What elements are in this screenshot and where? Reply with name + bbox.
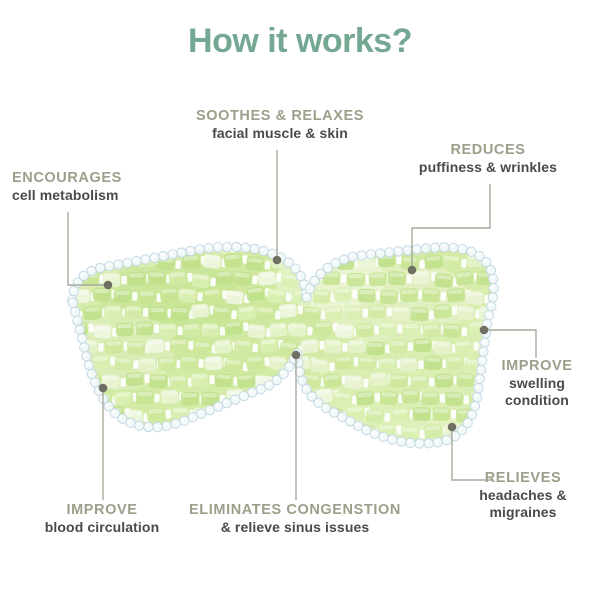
callout-encourages: ENCOURAGES cell metabolism	[12, 170, 182, 204]
callout-eliminates-head: ELIMINATES CONGENSTION	[160, 502, 430, 519]
callout-improve-swelling-head: IMPROVE	[478, 358, 596, 375]
callout-improve-blood-head: IMPROVE	[18, 502, 186, 519]
callout-relieves-head: RELIEVES	[448, 470, 598, 487]
callout-encourages-head: ENCOURAGES	[12, 170, 182, 187]
callout-soothes-sub: facial muscle & skin	[175, 125, 385, 142]
callout-soothes-head: SOOTHES & RELAXES	[175, 108, 385, 125]
connector-encourages	[68, 212, 104, 285]
connector-reduces	[412, 184, 490, 267]
callout-improve-swelling-sub: swelling	[478, 375, 596, 392]
dot-encourages	[104, 281, 113, 290]
callout-reduces: REDUCES puffiness & wrinkles	[393, 142, 583, 176]
callout-improve-swelling-sub2: condition	[478, 392, 596, 409]
callout-encourages-sub: cell metabolism	[12, 187, 182, 204]
page-title: How it works?	[0, 22, 600, 61]
callout-soothes: SOOTHES & RELAXES facial muscle & skin	[175, 108, 385, 142]
callout-relieves: RELIEVES headaches & migraines	[448, 470, 598, 520]
callout-improve-blood: IMPROVE blood circulation	[18, 502, 186, 536]
dot-soothes	[273, 256, 282, 265]
callout-eliminates: ELIMINATES CONGENSTION & relieve sinus i…	[160, 502, 430, 536]
dot-reduces	[408, 266, 417, 275]
callout-relieves-sub2: migraines	[448, 504, 598, 521]
dot-eliminates	[292, 351, 301, 360]
callout-reduces-sub: puffiness & wrinkles	[393, 159, 583, 176]
infographic-canvas: How it works? ENCOURAGES cell metabolism…	[0, 0, 600, 600]
callout-improve-blood-sub: blood circulation	[18, 519, 186, 536]
callout-relieves-sub: headaches &	[448, 487, 598, 504]
connector-dots	[99, 256, 489, 432]
dot-relieves	[448, 423, 457, 432]
dot-improve-swelling	[480, 326, 489, 335]
connector-improve-swelling	[488, 330, 536, 358]
callout-eliminates-sub: & relieve sinus issues	[160, 519, 430, 536]
callout-improve-swelling: IMPROVE swelling condition	[478, 358, 596, 408]
dot-improve-blood	[99, 384, 108, 393]
callout-reduces-head: REDUCES	[393, 142, 583, 159]
